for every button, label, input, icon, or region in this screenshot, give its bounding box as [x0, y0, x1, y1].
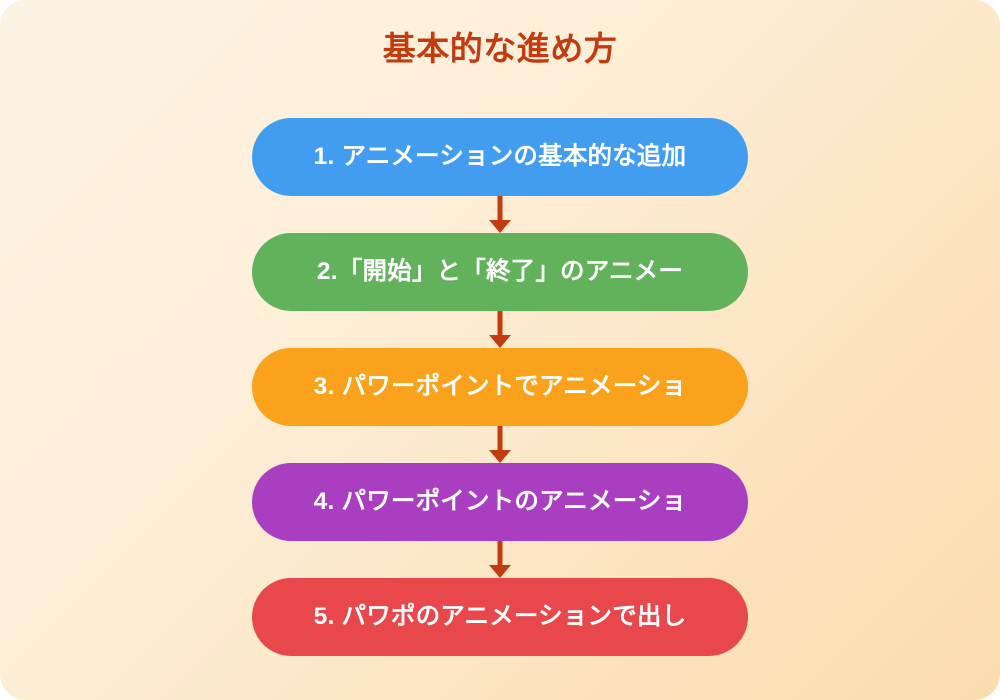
flow-step-2[interactable]: 2.「開始」と「終了」のアニメー — [252, 233, 748, 311]
down-arrow-icon — [489, 541, 511, 578]
flow-step-1-wrapper: 1. アニメーションの基本的な追加 — [252, 118, 748, 196]
flowchart: 1. アニメーションの基本的な追加 2.「開始」と「終了」のアニメー 3. — [252, 118, 748, 656]
flow-step-5-label: 5. パワポのアニメーションで出し — [314, 602, 687, 631]
page-title: 基本的な進め方 — [0, 28, 1000, 69]
flow-step-1-label: 1. アニメーションの基本的な追加 — [314, 142, 687, 171]
down-arrow-icon — [489, 426, 511, 463]
down-arrow-icon — [489, 196, 511, 233]
flow-step-3-label: 3. パワーポイントでアニメーショ — [314, 372, 687, 401]
flow-step-5-wrapper: 5. パワポのアニメーションで出し — [252, 578, 748, 656]
connector-1-to-2 — [252, 196, 748, 233]
flow-step-2-label: 2.「開始」と「終了」のアニメー — [317, 257, 683, 286]
flow-step-4[interactable]: 4. パワーポイントのアニメーショ — [252, 463, 748, 541]
flow-step-3[interactable]: 3. パワーポイントでアニメーショ — [252, 348, 748, 426]
flow-step-4-label: 4. パワーポイントのアニメーショ — [314, 487, 687, 516]
connector-3-to-4 — [252, 426, 748, 463]
flow-step-2-wrapper: 2.「開始」と「終了」のアニメー — [252, 233, 748, 311]
down-arrow-icon — [489, 311, 511, 348]
flow-step-4-wrapper: 4. パワーポイントのアニメーショ — [252, 463, 748, 541]
flow-step-3-wrapper: 3. パワーポイントでアニメーショ — [252, 348, 748, 426]
connector-4-to-5 — [252, 541, 748, 578]
slide-canvas: 基本的な進め方 1. アニメーションの基本的な追加 2.「開始」と「終了」のアニ… — [0, 0, 1000, 700]
flow-step-1[interactable]: 1. アニメーションの基本的な追加 — [252, 118, 748, 196]
connector-2-to-3 — [252, 311, 748, 348]
flow-step-5[interactable]: 5. パワポのアニメーションで出し — [252, 578, 748, 656]
